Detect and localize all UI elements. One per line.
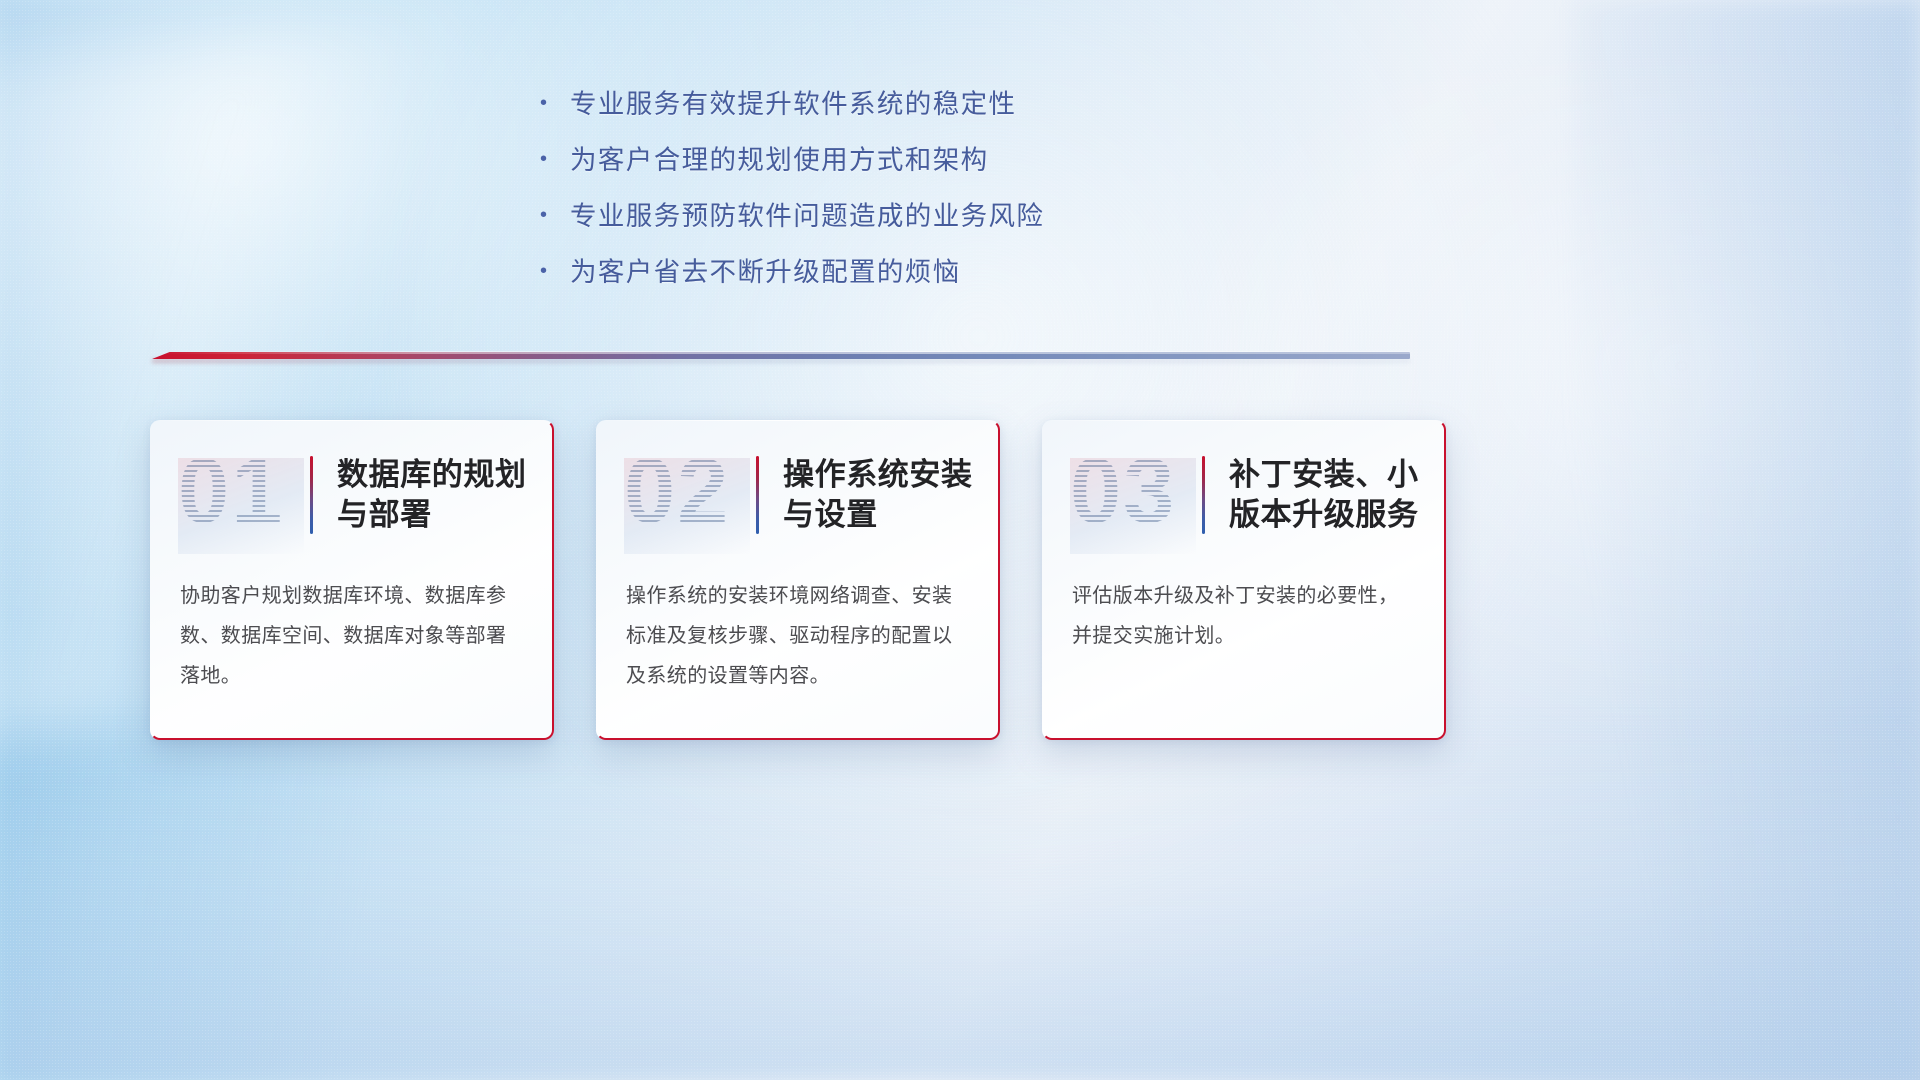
bullet-item: • 专业服务有效提升软件系统的稳定性 bbox=[540, 88, 1360, 122]
card-title: 操作系统安装 与设置 bbox=[783, 455, 973, 536]
card-body-text: 协助客户规划数据库环境、数据库参数、数据库空间、数据库对象等部署落地。 bbox=[150, 576, 554, 696]
card-body-text: 操作系统的安装环境网络调查、安装标准及复核步骤、驱动程序的配置以及系统的设置等内… bbox=[596, 576, 1000, 696]
card-title-divider bbox=[756, 456, 759, 534]
bullet-marker-icon: • bbox=[540, 261, 570, 281]
bullet-item: • 为客户省去不断升级配置的烦恼 bbox=[540, 256, 1360, 290]
card-title-divider bbox=[1202, 456, 1205, 534]
bullet-marker-icon: • bbox=[540, 93, 570, 113]
card-title: 数据库的规划 与部署 bbox=[337, 455, 527, 536]
card-number: 01 bbox=[178, 445, 304, 537]
section-divider bbox=[152, 348, 1410, 364]
card-body-text: 评估版本升级及补丁安装的必要性，并提交实施计划。 bbox=[1042, 576, 1446, 656]
bullet-marker-icon: • bbox=[540, 149, 570, 169]
service-card[interactable]: 03 补丁安装、小 版本升级服务 评估版本升级及补丁安装的必要性，并提交实施计划… bbox=[1042, 420, 1446, 740]
bullet-marker-icon: • bbox=[540, 205, 570, 225]
card-title: 补丁安装、小 版本升级服务 bbox=[1229, 455, 1419, 536]
section-divider-shadow bbox=[152, 359, 1410, 363]
card-header: 01 数据库的规划 与部署 bbox=[150, 420, 554, 570]
bullet-item-label: 为客户省去不断升级配置的烦恼 bbox=[570, 256, 961, 290]
benefits-bullet-list: • 专业服务有效提升软件系统的稳定性 • 为客户合理的规划使用方式和架构 • 专… bbox=[540, 88, 1360, 312]
card-header: 02 操作系统安装 与设置 bbox=[596, 420, 1000, 570]
card-number: 02 bbox=[624, 445, 750, 537]
bullet-item-label: 为客户合理的规划使用方式和架构 bbox=[570, 144, 989, 178]
service-card[interactable]: 01 数据库的规划 与部署 协助客户规划数据库环境、数据库参数、数据库空间、数据… bbox=[150, 420, 554, 740]
bullet-item: • 专业服务预防软件问题造成的业务风险 bbox=[540, 200, 1360, 234]
card-header: 03 补丁安装、小 版本升级服务 bbox=[1042, 420, 1446, 570]
service-card[interactable]: 02 操作系统安装 与设置 操作系统的安装环境网络调查、安装标准及复核步骤、驱动… bbox=[596, 420, 1000, 740]
card-number: 03 bbox=[1070, 445, 1196, 537]
bullet-item: • 为客户合理的规划使用方式和架构 bbox=[540, 144, 1360, 178]
bullet-item-label: 专业服务有效提升软件系统的稳定性 bbox=[570, 88, 1016, 122]
card-title-divider bbox=[310, 456, 313, 534]
section-divider-highlight bbox=[152, 351, 1410, 354]
slide-stage: • 专业服务有效提升软件系统的稳定性 • 为客户合理的规划使用方式和架构 • 专… bbox=[0, 0, 1920, 1080]
service-card-row: 01 数据库的规划 与部署 协助客户规划数据库环境、数据库参数、数据库空间、数据… bbox=[150, 420, 1446, 740]
bullet-item-label: 专业服务预防软件问题造成的业务风险 bbox=[570, 200, 1044, 234]
